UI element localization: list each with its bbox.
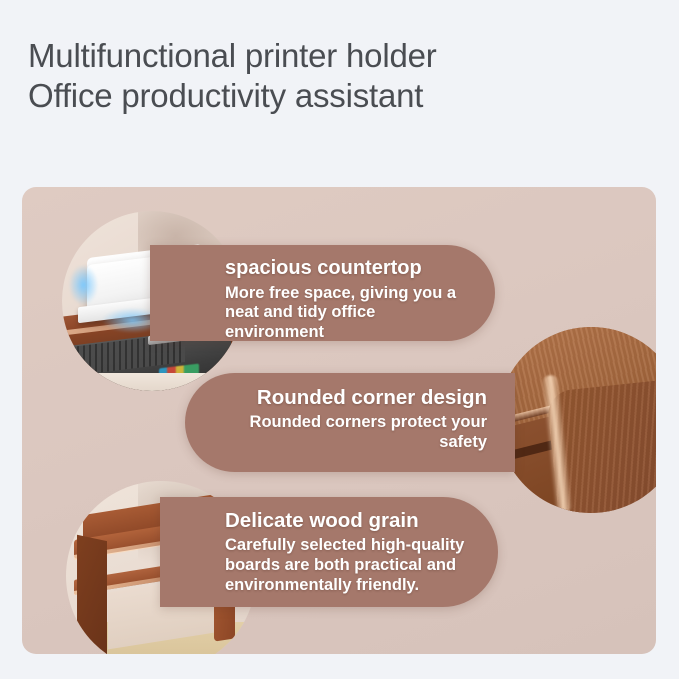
wooden-rounded-corner-photo [498, 327, 656, 513]
callout-delicate-wood-grain: Delicate wood grain Carefully selected h… [160, 497, 498, 607]
photo-blue-glow-left [69, 265, 98, 305]
callout-body: Carefully selected high-quality boards a… [225, 536, 474, 595]
page-title: Multifunctional printer holder Office pr… [28, 36, 628, 116]
callout-body: More free space, giving you a neat and t… [225, 284, 469, 343]
callout-body: Rounded corners protect your safety [205, 413, 487, 453]
callout-heading: Delicate wood grain [225, 509, 474, 533]
callout-spacious-countertop: spacious countertop More free space, giv… [150, 245, 495, 341]
page-title-line-2: Office productivity assistant [28, 76, 628, 116]
callout-heading: spacious countertop [225, 257, 469, 281]
page-title-line-1: Multifunctional printer holder [28, 36, 628, 76]
callout-rounded-corner-design: Rounded corner design Rounded corners pr… [185, 373, 515, 472]
callout-heading: Rounded corner design [205, 386, 487, 410]
stand-left-leg [77, 535, 107, 654]
